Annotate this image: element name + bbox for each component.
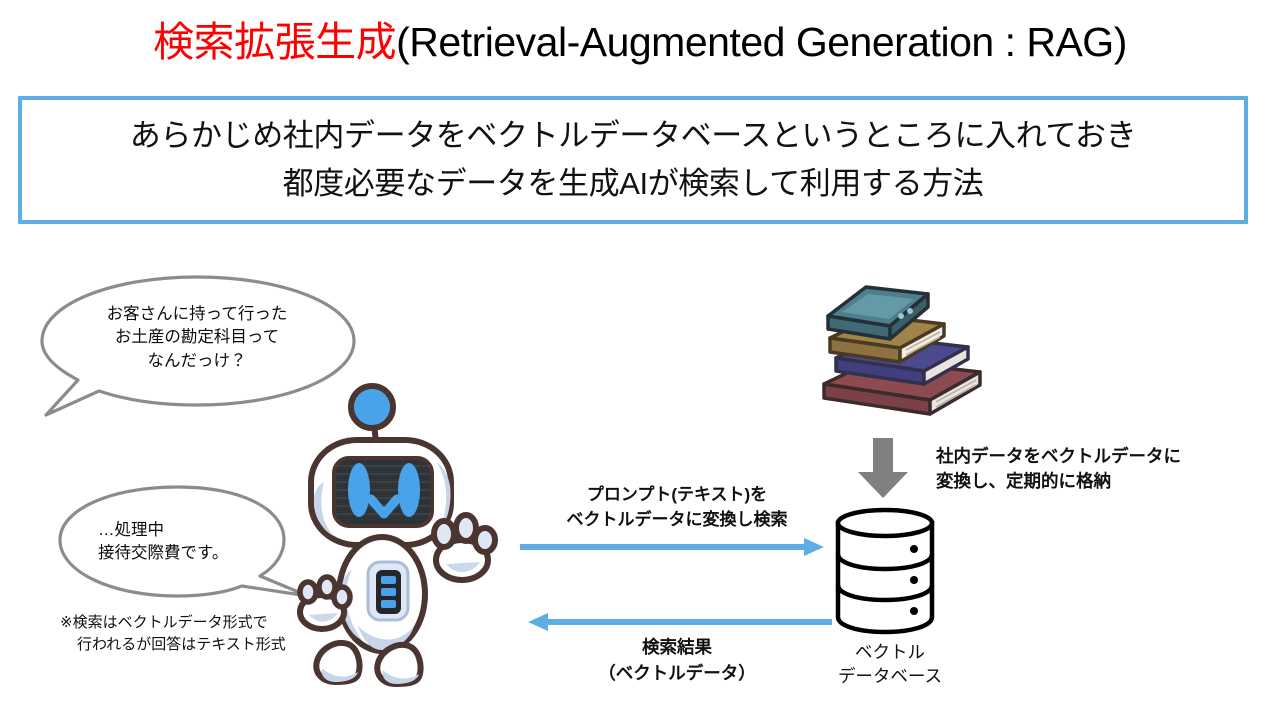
robot-antenna-icon <box>351 386 393 428</box>
robot-eye-left <box>348 463 370 517</box>
book-stack-illustration <box>818 282 994 422</box>
statement-box: あらかじめ社内データをベクトルデータベースというところに入れておき 都度必要なデ… <box>18 96 1248 224</box>
slide-canvas: 検索拡張生成(Retrieval-Augmented Generation : … <box>0 0 1280 720</box>
flow-arrow-right-icon <box>520 538 824 556</box>
flow-forward-line-2: ベクトルデータに変換し検索 <box>512 508 842 533</box>
page-title-english: (Retrieval-Augmented Generation : RAG) <box>396 19 1127 65</box>
flow-backward-line-2: （ベクトルデータ） <box>512 661 842 687</box>
statement-line-2: 都度必要なデータを生成AIが検索して利用する方法 <box>283 160 984 208</box>
speech-bubble-answer: …処理中 接待交際費です。 <box>46 482 318 602</box>
store-label-line-2: 変換し、定期的に格納 <box>936 469 1246 494</box>
robot-illustration <box>296 382 548 692</box>
page-title-japanese: 検索拡張生成 <box>153 19 396 65</box>
vector-database-icon <box>830 505 940 635</box>
robot-hand-left <box>300 577 350 629</box>
statement-line-1: あらかじめ社内データをベクトルデータベースというところに入れておき <box>130 112 1136 160</box>
store-label-line-1: 社内データをベクトルデータに <box>936 444 1246 469</box>
speech-bubble-answer-shape <box>46 482 318 602</box>
robot-foot-right <box>377 645 420 684</box>
page-title: 検索拡張生成(Retrieval-Augmented Generation : … <box>0 20 1280 65</box>
store-arrow-down <box>855 438 911 498</box>
robot-foot-left <box>316 643 359 682</box>
flow-forward-line-1: プロンプト(テキスト)を <box>512 483 842 508</box>
flow-backward-line-1: 検索結果 <box>512 635 842 661</box>
flow-forward-label: プロンプト(テキスト)を ベクトルデータに変換し検索 <box>512 483 842 532</box>
robot-hand-right <box>434 515 495 580</box>
robot-eye-right <box>398 463 420 517</box>
footnote-line-1: ※検索はベクトルデータ形式で <box>60 614 268 631</box>
store-label: 社内データをベクトルデータに 変換し、定期的に格納 <box>936 444 1246 495</box>
flow-backward-label: 検索結果 （ベクトルデータ） <box>512 635 842 687</box>
flow-arrow-left-icon <box>528 613 832 631</box>
